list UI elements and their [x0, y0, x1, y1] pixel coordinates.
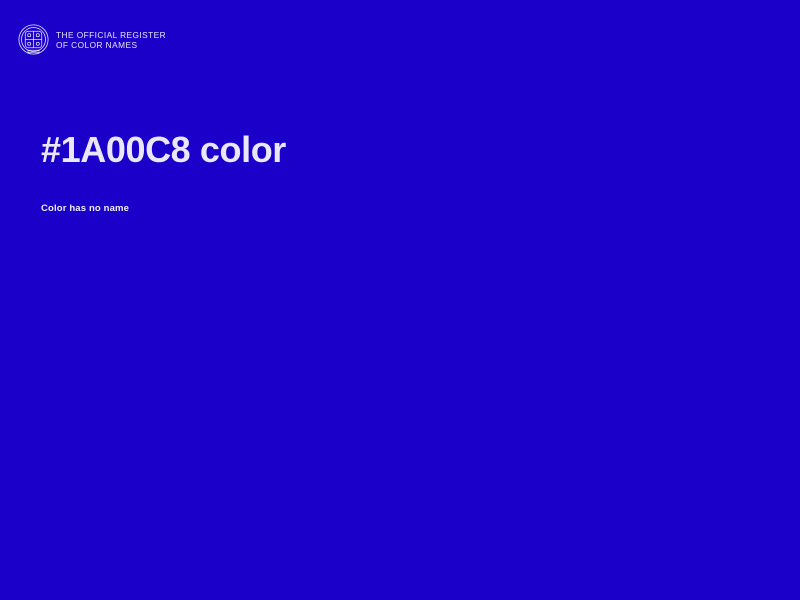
brand-wordmark: THE OFFICIAL REGISTER OF COLOR NAMES [56, 29, 166, 51]
color-swatch-canvas: THE OFFICIAL REGISTER OF COLOR NAMES #1A… [0, 0, 800, 600]
color-name-status: Color has no name [41, 172, 741, 215]
color-info-block: #1A00C8 color Color has no name [41, 128, 741, 215]
brand-wordmark-line-2: OF COLOR NAMES [56, 40, 166, 50]
page-title: #1A00C8 color [41, 128, 741, 172]
brand-header[interactable]: THE OFFICIAL REGISTER OF COLOR NAMES [18, 24, 166, 55]
register-seal-icon [18, 24, 49, 55]
brand-wordmark-line-1: THE OFFICIAL REGISTER [56, 30, 166, 40]
